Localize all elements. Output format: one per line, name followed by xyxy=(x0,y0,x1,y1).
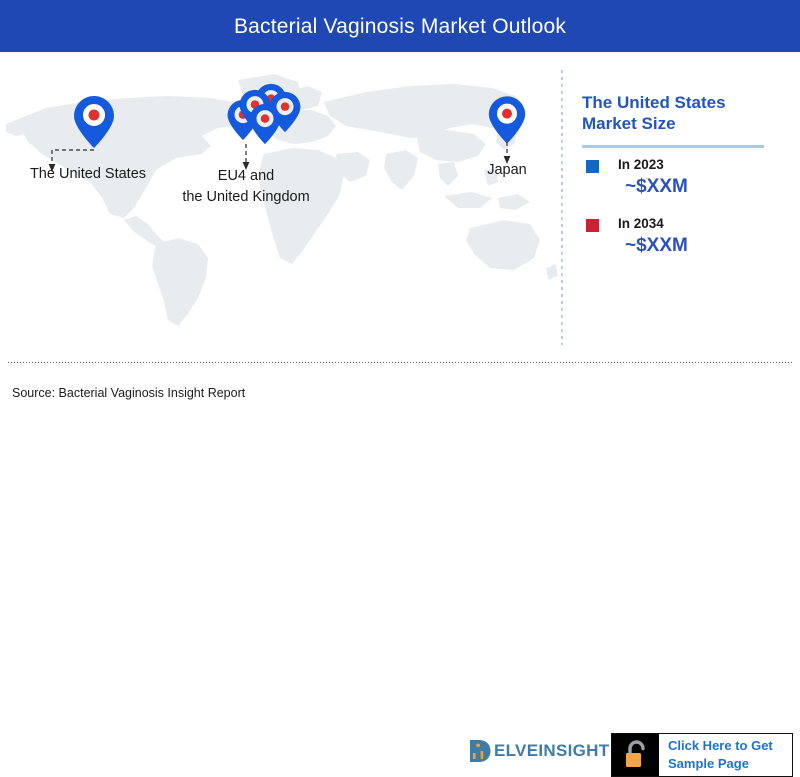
cta-line2: Sample Page xyxy=(668,756,749,771)
footer: Source: Bacterial Vaginosis Insight Repo… xyxy=(0,362,800,420)
map-label-eu4-uk-line2: the United Kingdom xyxy=(182,189,309,205)
body-area: The United States xyxy=(0,52,800,362)
header-banner: Bacterial Vaginosis Market Outlook xyxy=(0,0,800,52)
slide-root: Bacterial Vaginosis Market Outlook xyxy=(0,0,800,420)
source-text: Source: Bacterial Vaginosis Insight Repo… xyxy=(12,386,245,400)
panel-divider-rule xyxy=(582,145,764,148)
market-size-legend: In 2023 ~$XXM In 2034 ~$XXM xyxy=(580,157,795,275)
delveinsight-logo: ELVEINSIGHT xyxy=(468,738,609,764)
market-size-panel: The United States Market Size In 2023 ~$… xyxy=(580,52,795,362)
legend-item-2034: In 2034 ~$XXM xyxy=(580,216,795,259)
legend-item-2023: In 2023 ~$XXM xyxy=(580,157,795,200)
map-label-eu4-uk-line1: EU4 and xyxy=(218,168,274,184)
location-pin-icon xyxy=(248,102,282,146)
map-pin-united-states[interactable] xyxy=(72,94,116,150)
map-label-eu4-uk: EU4 and the United Kingdom xyxy=(166,166,326,208)
cta-line1: Click Here to Get xyxy=(668,738,773,753)
legend-value-2034: ~$XXM xyxy=(625,234,795,259)
legend-swatch-2023 xyxy=(586,160,599,173)
location-pin-icon xyxy=(72,94,116,150)
legend-swatch-2034 xyxy=(586,219,599,232)
sample-icon-panel xyxy=(612,734,659,776)
vertical-divider xyxy=(561,70,563,345)
legend-value-2023: ~$XXM xyxy=(625,175,795,200)
map-label-united-states: The United States xyxy=(8,164,168,185)
panel-title-line1: The United States xyxy=(582,93,726,112)
map-pin-eu-5[interactable] xyxy=(248,102,282,146)
map-pin-cluster-eu4-uk[interactable] xyxy=(226,82,302,148)
map-label-japan: Japan xyxy=(452,160,562,181)
location-pin-icon xyxy=(487,94,527,146)
footer-separator xyxy=(8,362,792,363)
logo-d-icon xyxy=(468,739,494,763)
panel-title: The United States Market Size xyxy=(582,92,782,135)
legend-label-2034: In 2034 xyxy=(618,216,795,232)
legend-label-2023: In 2023 xyxy=(618,157,795,173)
page-title: Bacterial Vaginosis Market Outlook xyxy=(234,16,566,37)
sample-page-button[interactable]: Click Here to Get Sample Page xyxy=(611,733,793,777)
logo-wordmark: ELVEINSIGHT xyxy=(494,741,609,761)
world-map: The United States xyxy=(0,52,562,362)
sample-page-label: Click Here to Get Sample Page xyxy=(659,734,792,776)
open-padlock-icon xyxy=(623,740,649,770)
panel-title-line2: Market Size xyxy=(582,114,676,133)
map-pin-japan[interactable] xyxy=(487,94,527,146)
